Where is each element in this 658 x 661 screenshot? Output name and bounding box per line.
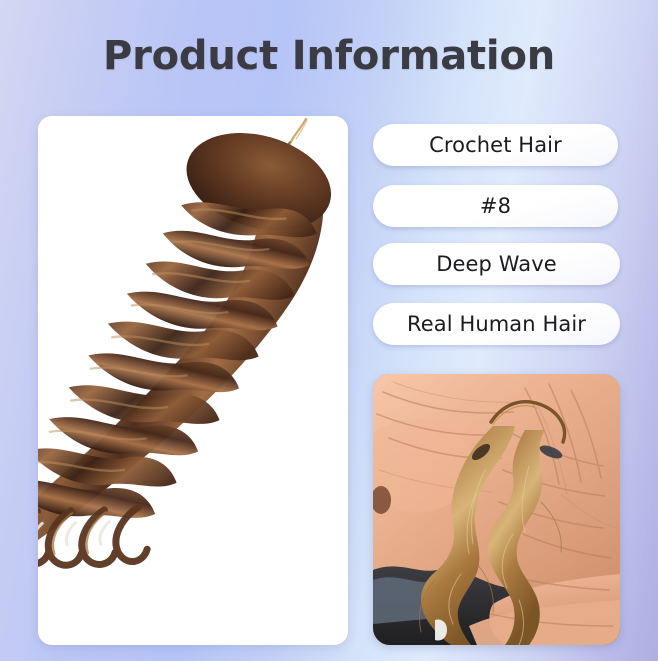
product-image-card[interactable]: [38, 116, 348, 645]
feature-pill-label: #8: [480, 194, 511, 218]
feature-pill-texture[interactable]: Deep Wave: [373, 243, 620, 285]
hair-bundle: [38, 116, 348, 643]
feature-pill-color[interactable]: #8: [373, 185, 618, 227]
feature-pill-material[interactable]: Real Human Hair: [373, 303, 620, 345]
hair-strand-photo-card[interactable]: [373, 374, 620, 645]
hand-photo-art: [373, 374, 620, 645]
feature-pill-label: Real Human Hair: [407, 312, 586, 336]
feature-pill-crochet-hair[interactable]: Crochet Hair: [373, 124, 618, 166]
feature-pill-label: Deep Wave: [436, 252, 557, 276]
feature-pill-label: Crochet Hair: [429, 133, 562, 157]
product-image: [38, 116, 348, 645]
page-title: Product Information: [0, 33, 658, 79]
hand-photo: [373, 374, 620, 645]
hair-bundle-art: [38, 116, 348, 643]
product-information-page: Product Information: [0, 0, 658, 661]
